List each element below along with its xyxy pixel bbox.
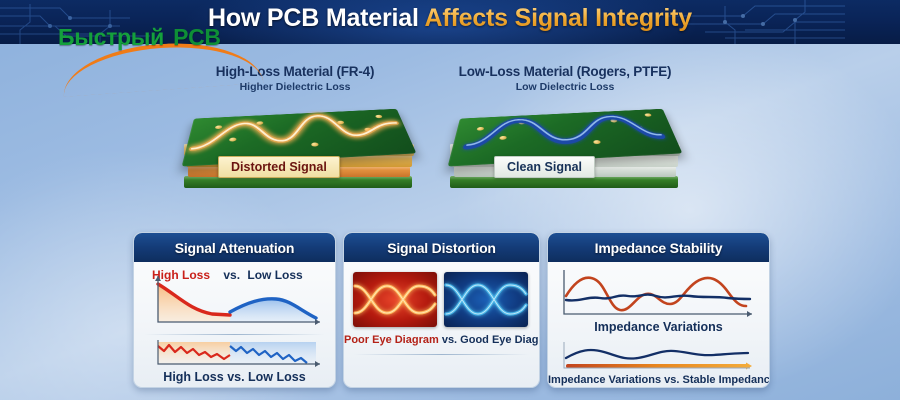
panel-header: Impedance Stability: [548, 233, 769, 262]
attenuation-ripple-chart: [144, 338, 329, 370]
panel-divider: [144, 334, 325, 335]
brand-logo[interactable]: Быстрый PCB: [58, 24, 221, 51]
impedance-variation-chart: [556, 266, 762, 320]
logo-accent-text: PCB: [173, 24, 221, 50]
board-title: Low-Loss Material (Rogers, PTFE): [420, 64, 710, 79]
panel-title: Signal Attenuation: [175, 240, 295, 256]
panel-caption: High Loss vs. Low Loss: [134, 370, 335, 384]
panel-caption: Impedance Variations vs. Stable Impedanc…: [548, 374, 769, 386]
impedance-stable-chart: [556, 340, 762, 374]
caption-good: Good Eye Diagram: [460, 334, 540, 346]
panel-divider: [354, 354, 529, 355]
pcb-board-high-loss: Distorted Signal: [176, 100, 422, 205]
signal-label-distorted: Distorted Signal: [218, 156, 340, 178]
title-primary: How PCB Material: [208, 4, 425, 32]
logo-text: Быстрый: [58, 24, 170, 50]
impedance-mid-caption: Impedance Variations: [548, 320, 769, 334]
poor-eye-diagram: [353, 272, 437, 327]
pcb-board-low-loss: Clean Signal: [442, 100, 688, 205]
board-subtitle: Low Dielectric Loss: [420, 81, 710, 93]
panel-body: Poor Eye Diagram vs. Good Eye Diagram: [344, 262, 539, 388]
infographic-canvas: How PCB Material Affects Signal Integrit…: [0, 0, 900, 400]
panel-title: Signal Distortion: [387, 240, 496, 256]
attenuation-chart: [144, 266, 329, 328]
panel-signal-distortion[interactable]: Signal Distortion: [343, 232, 540, 388]
panel-header: Signal Distortion: [344, 233, 539, 262]
panel-impedance-stability[interactable]: Impedance Stability Impedance Variations: [547, 232, 770, 388]
board-heading-low-loss: Low-Loss Material (Rogers, PTFE) Low Die…: [420, 64, 710, 93]
caption-poor: Poor Eye Diagram: [344, 334, 439, 346]
good-eye-diagram: [444, 272, 528, 327]
caption-vs: vs.: [439, 334, 460, 346]
panel-body: High Loss vs. Low Loss: [134, 262, 335, 388]
signal-label-clean: Clean Signal: [494, 156, 595, 178]
panel-header: Signal Attenuation: [134, 233, 335, 262]
panel-body: Impedance Variations Impedance Variation…: [548, 262, 769, 388]
panel-title: Impedance Stability: [595, 240, 723, 256]
eye-diagram-caption: Poor Eye Diagram vs. Good Eye Diagram: [344, 334, 539, 346]
panel-signal-attenuation[interactable]: Signal Attenuation High Loss vs. Low Los…: [133, 232, 336, 388]
title-accent: Affects Signal Integrity: [425, 4, 692, 32]
